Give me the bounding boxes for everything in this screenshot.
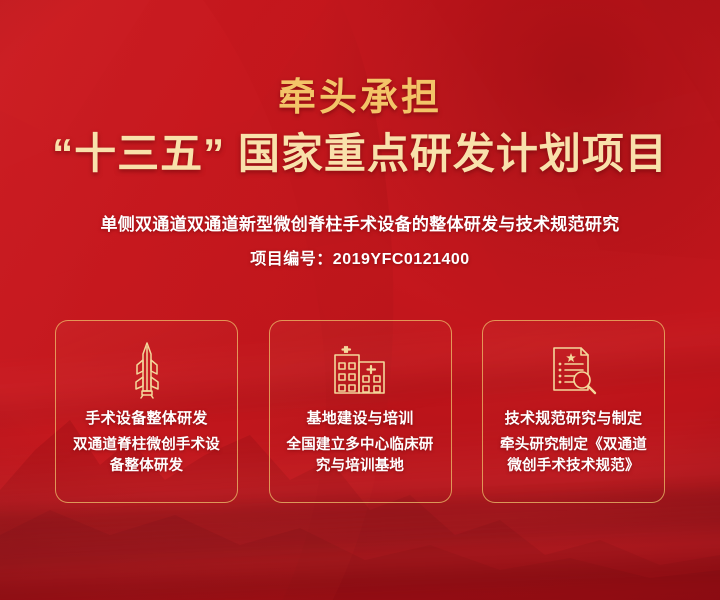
document-search-icon bbox=[549, 341, 599, 399]
card-description: 牵头研究制定《双通道微创手术技术规范》 bbox=[494, 435, 654, 477]
card-technical-standard[interactable]: 技术规范研究与制定 牵头研究制定《双通道微创手术技术规范》 bbox=[482, 320, 665, 503]
card-title: 基地建设与培训 bbox=[306, 407, 413, 428]
project-number: 项目编号：2019YFC0121400 bbox=[0, 245, 720, 269]
card-list: 手术设备整体研发 双通道脊柱微创手术设备整体研发 bbox=[55, 320, 665, 503]
card-surgical-equipment[interactable]: 手术设备整体研发 双通道脊柱微创手术设备整体研发 bbox=[55, 320, 238, 503]
headline-line-1: 牵头承担 bbox=[0, 78, 720, 120]
rocket-icon bbox=[130, 341, 164, 399]
card-title: 技术规范研究与制定 bbox=[505, 407, 643, 428]
headline-block: 牵头承担 “十三五” 国家重点研发计划项目 bbox=[0, 78, 720, 178]
card-base-construction[interactable]: 基地建设与培训 全国建立多中心临床研究与培训基地 bbox=[269, 320, 452, 503]
poster-banner: 牵头承担 “十三五” 国家重点研发计划项目 单侧双通道双通道新型微创脊柱手术设备… bbox=[0, 0, 720, 600]
card-description: 全国建立多中心临床研究与培训基地 bbox=[280, 435, 440, 477]
hospital-icon bbox=[332, 341, 388, 399]
card-title: 手术设备整体研发 bbox=[85, 407, 207, 428]
card-description: 双通道脊柱微创手术设备整体研发 bbox=[67, 435, 227, 477]
headline-line-2: “十三五” 国家重点研发计划项目 bbox=[0, 130, 720, 178]
project-subtitle: 单侧双通道双通道新型微创脊柱手术设备的整体研发与技术规范研究 bbox=[0, 210, 720, 235]
